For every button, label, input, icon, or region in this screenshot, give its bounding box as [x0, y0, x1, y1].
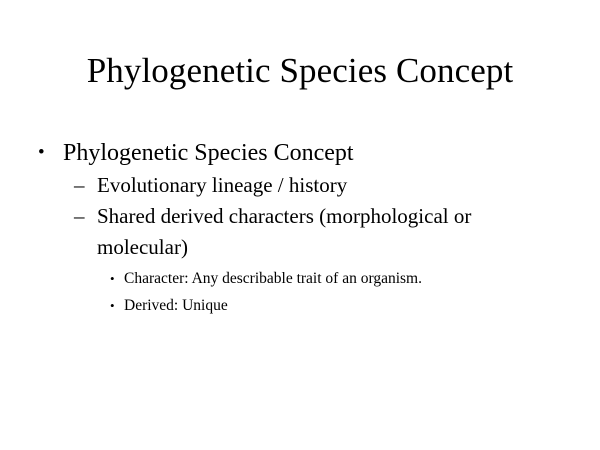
bullet-level3-text: Derived: Unique	[124, 292, 544, 319]
slide-title: Phylogenetic Species Concept	[0, 50, 600, 92]
bullet-level1-text: Phylogenetic Species Concept	[63, 136, 563, 170]
slide-body: • Phylogenetic Species Concept – Evoluti…	[0, 136, 600, 319]
bullet-level2-shared-derived-characters: – Shared derived characters (morphologic…	[0, 201, 600, 263]
bullet-dot-icon: •	[110, 292, 124, 319]
bullet-level2-evolutionary-lineage: – Evolutionary lineage / history	[0, 170, 600, 201]
bullet-dot-icon: •	[110, 265, 124, 292]
presentation-slide: Phylogenetic Species Concept • Phylogene…	[0, 0, 600, 450]
bullet-level2-text: Shared derived characters (morphological…	[97, 201, 529, 263]
bullet-dash-icon: –	[74, 201, 97, 232]
bullet-level3-text: Character: Any describable trait of an o…	[124, 265, 544, 292]
bullet-dot-icon: •	[38, 136, 63, 170]
bullet-level1: • Phylogenetic Species Concept	[0, 136, 600, 170]
bullet-dash-icon: –	[74, 170, 97, 201]
bullet-level3-derived: • Derived: Unique	[0, 292, 600, 319]
bullet-level2-text: Evolutionary lineage / history	[97, 170, 529, 201]
bullet-level3-character: • Character: Any describable trait of an…	[0, 265, 600, 292]
